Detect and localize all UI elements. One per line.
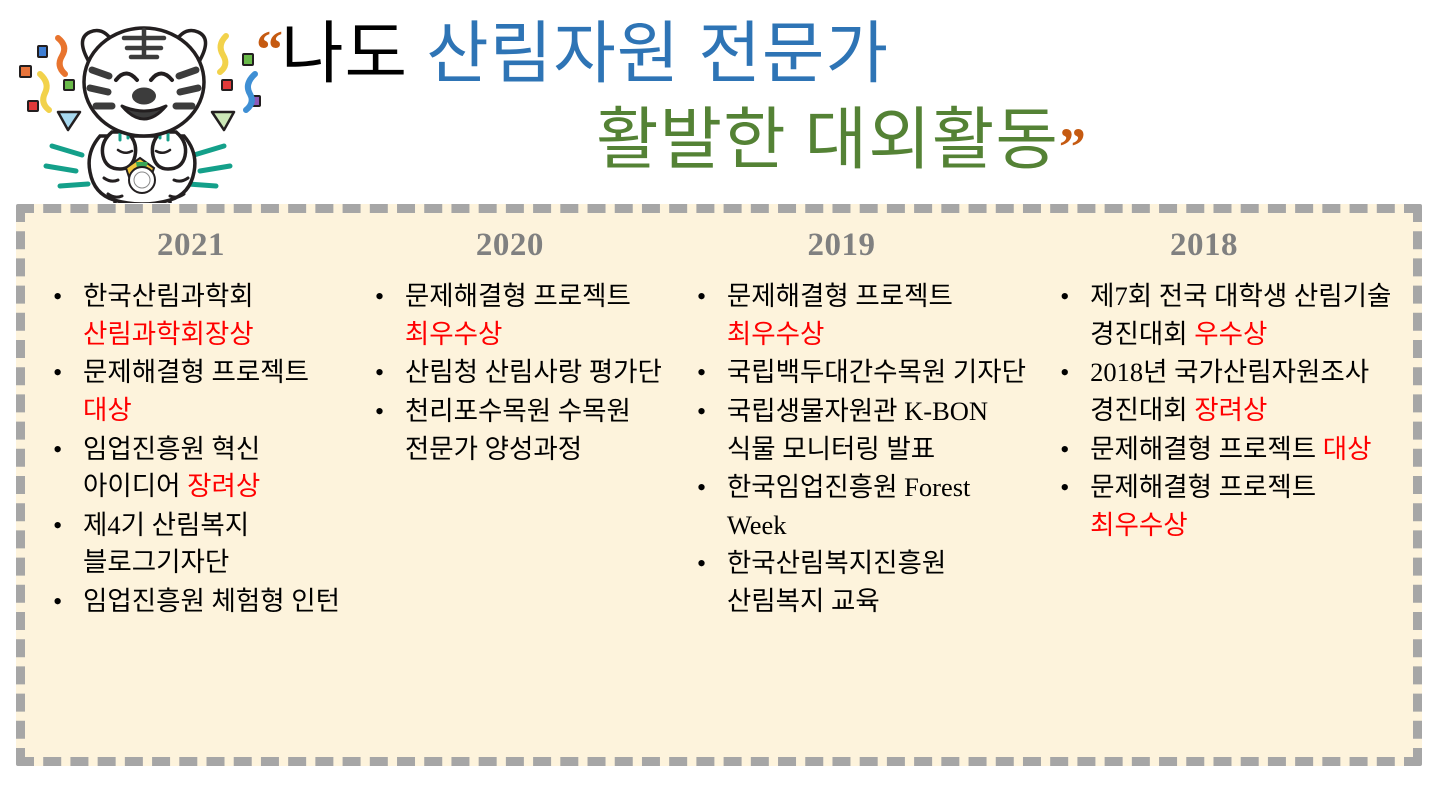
year-heading-2021: 2021 (47, 227, 355, 264)
item-text: 문제해결형 프로젝트 (1090, 472, 1316, 502)
year-heading-2018: 2018 (1054, 227, 1409, 264)
confetti-left (20, 38, 80, 130)
bullet-icon: • (53, 583, 62, 621)
item-text: 문제해결형 프로젝트 (405, 281, 631, 311)
activity-list-2019: •문제해결형 프로젝트 최우수상 •국립백두대간수목원 기자단 •국립생물자원관… (691, 278, 1032, 621)
bullet-icon: • (375, 278, 384, 316)
list-item: •한국산림복지진흥원 산림복지 교육 (691, 545, 1032, 620)
award-label: 최우수상 (405, 319, 503, 349)
list-item: •한국산림과학회 산림과학회장상 (47, 278, 355, 353)
year-column-2018: 2018 •제7회 전국 대학생 산림기술 경진대회 우수상 •2018년 국가… (1032, 227, 1409, 757)
item-text: 제4기 산림복지 블로그기자단 (83, 510, 249, 578)
item-text: 국립생물자원관 K-BON 식물 모니터링 발표 (727, 396, 988, 464)
item-text: 산림청 산림사랑 평가단 (405, 357, 662, 387)
award-label: 최우수상 (727, 319, 825, 349)
list-item: •문제해결형 프로젝트 대상 (47, 354, 355, 429)
year-heading-2020: 2020 (369, 227, 671, 264)
activity-list-2021: •한국산림과학회 산림과학회장상 •문제해결형 프로젝트 대상 •임업진흥원 혁… (47, 278, 355, 621)
bullet-icon: • (697, 354, 706, 392)
bullet-icon: • (375, 393, 384, 431)
list-item: •임업진흥원 혁신 아이디어 장려상 (47, 431, 355, 506)
title-line-1: “나도 산림자원 전문가 (256, 20, 889, 88)
title-text-black: 나도 (281, 16, 426, 92)
item-text: 문제해결형 프로젝트 (1090, 434, 1323, 464)
bullet-icon: • (697, 545, 706, 583)
year-column-2021: 2021 •한국산림과학회 산림과학회장상 •문제해결형 프로젝트 대상 •임업… (29, 227, 355, 757)
bullet-icon: • (53, 354, 62, 392)
bullet-icon: • (697, 278, 706, 316)
tiger-nose (132, 88, 156, 105)
award-label: 대상 (83, 395, 132, 425)
list-item: •문제해결형 프로젝트 최우수상 (1054, 469, 1409, 544)
bullet-icon: • (1060, 431, 1069, 469)
item-text: 문제해결형 프로젝트 (727, 281, 953, 311)
item-text: 문제해결형 프로젝트 (83, 357, 309, 387)
item-text: 한국산림복지진흥원 산림복지 교육 (727, 548, 946, 616)
list-item: •문제해결형 프로젝트 최우수상 (691, 278, 1032, 353)
quote-close-mark: ” (1059, 117, 1084, 177)
bullet-icon: • (1060, 469, 1069, 507)
year-columns: 2021 •한국산림과학회 산림과학회장상 •문제해결형 프로젝트 대상 •임업… (25, 213, 1413, 757)
list-item: •제4기 산림복지 블로그기자단 (47, 507, 355, 582)
year-heading-2019: 2019 (691, 227, 1032, 264)
bullet-icon: • (697, 469, 706, 507)
activities-panel: 2021 •한국산림과학회 산림과학회장상 •문제해결형 프로젝트 대상 •임업… (16, 204, 1422, 766)
title-text-blue: 산림자원 전문가 (426, 16, 889, 92)
quote-open-mark: “ (256, 19, 281, 79)
list-item: •한국임업진흥원 Forest Week (691, 469, 1032, 544)
award-label: 산림과학회장상 (83, 319, 254, 349)
list-item: •국립백두대간수목원 기자단 (691, 354, 1032, 392)
bullet-icon: • (53, 507, 62, 545)
item-text: 천리포수목원 수목원 전문가 양성과정 (405, 396, 631, 464)
list-item: •국립생물자원관 K-BON 식물 모니터링 발표 (691, 393, 1032, 468)
award-label: 최우수상 (1090, 510, 1188, 540)
bullet-icon: • (53, 278, 62, 316)
award-label: 우수상 (1194, 319, 1267, 349)
list-item: •문제해결형 프로젝트 대상 (1054, 431, 1409, 469)
item-text: 임업진흥원 체험형 인턴 (83, 586, 340, 616)
list-item: •천리포수목원 수목원 전문가 양성과정 (369, 393, 671, 468)
item-text: 국립백두대간수목원 기자단 (727, 357, 1026, 387)
year-column-2019: 2019 •문제해결형 프로젝트 최우수상 •국립백두대간수목원 기자단 •국립… (671, 227, 1032, 757)
award-label: 대상 (1323, 434, 1372, 464)
title-line-2: 활발한 대외활동” (596, 106, 1084, 174)
bullet-icon: • (1060, 354, 1069, 392)
tiger-mascot-illustration (12, 8, 262, 203)
title-block: “나도 산림자원 전문가 활발한 대외활동” (250, 6, 1430, 201)
list-item: •임업진흥원 체험형 인턴 (47, 583, 355, 621)
bullet-icon: • (1060, 278, 1069, 316)
bullet-icon: • (375, 354, 384, 392)
item-text: 한국산림과학회 (83, 281, 254, 311)
item-text: 한국임업진흥원 Forest Week (727, 472, 971, 540)
bullet-icon: • (697, 393, 706, 431)
activity-list-2018: •제7회 전국 대학생 산림기술 경진대회 우수상 •2018년 국가산림자원조… (1054, 278, 1409, 544)
list-item: •2018년 국가산림자원조사 경진대회 장려상 (1054, 354, 1409, 429)
list-item: •산림청 산림사랑 평가단 (369, 354, 671, 392)
award-label: 장려상 (187, 471, 260, 501)
list-item: •제7회 전국 대학생 산림기술 경진대회 우수상 (1054, 278, 1409, 353)
bullet-icon: • (53, 431, 62, 469)
activity-list-2020: •문제해결형 프로젝트 최우수상 •산림청 산림사랑 평가단 •천리포수목원 수… (369, 278, 671, 468)
list-item: •문제해결형 프로젝트 최우수상 (369, 278, 671, 353)
year-column-2020: 2020 •문제해결형 프로젝트 최우수상 •산림청 산림사랑 평가단 •천리포… (355, 227, 671, 757)
title-text-green: 활발한 대외활동 (596, 102, 1059, 178)
award-label: 장려상 (1194, 395, 1267, 425)
header-banner: “나도 산림자원 전문가 활발한 대외활동” (0, 0, 1438, 200)
